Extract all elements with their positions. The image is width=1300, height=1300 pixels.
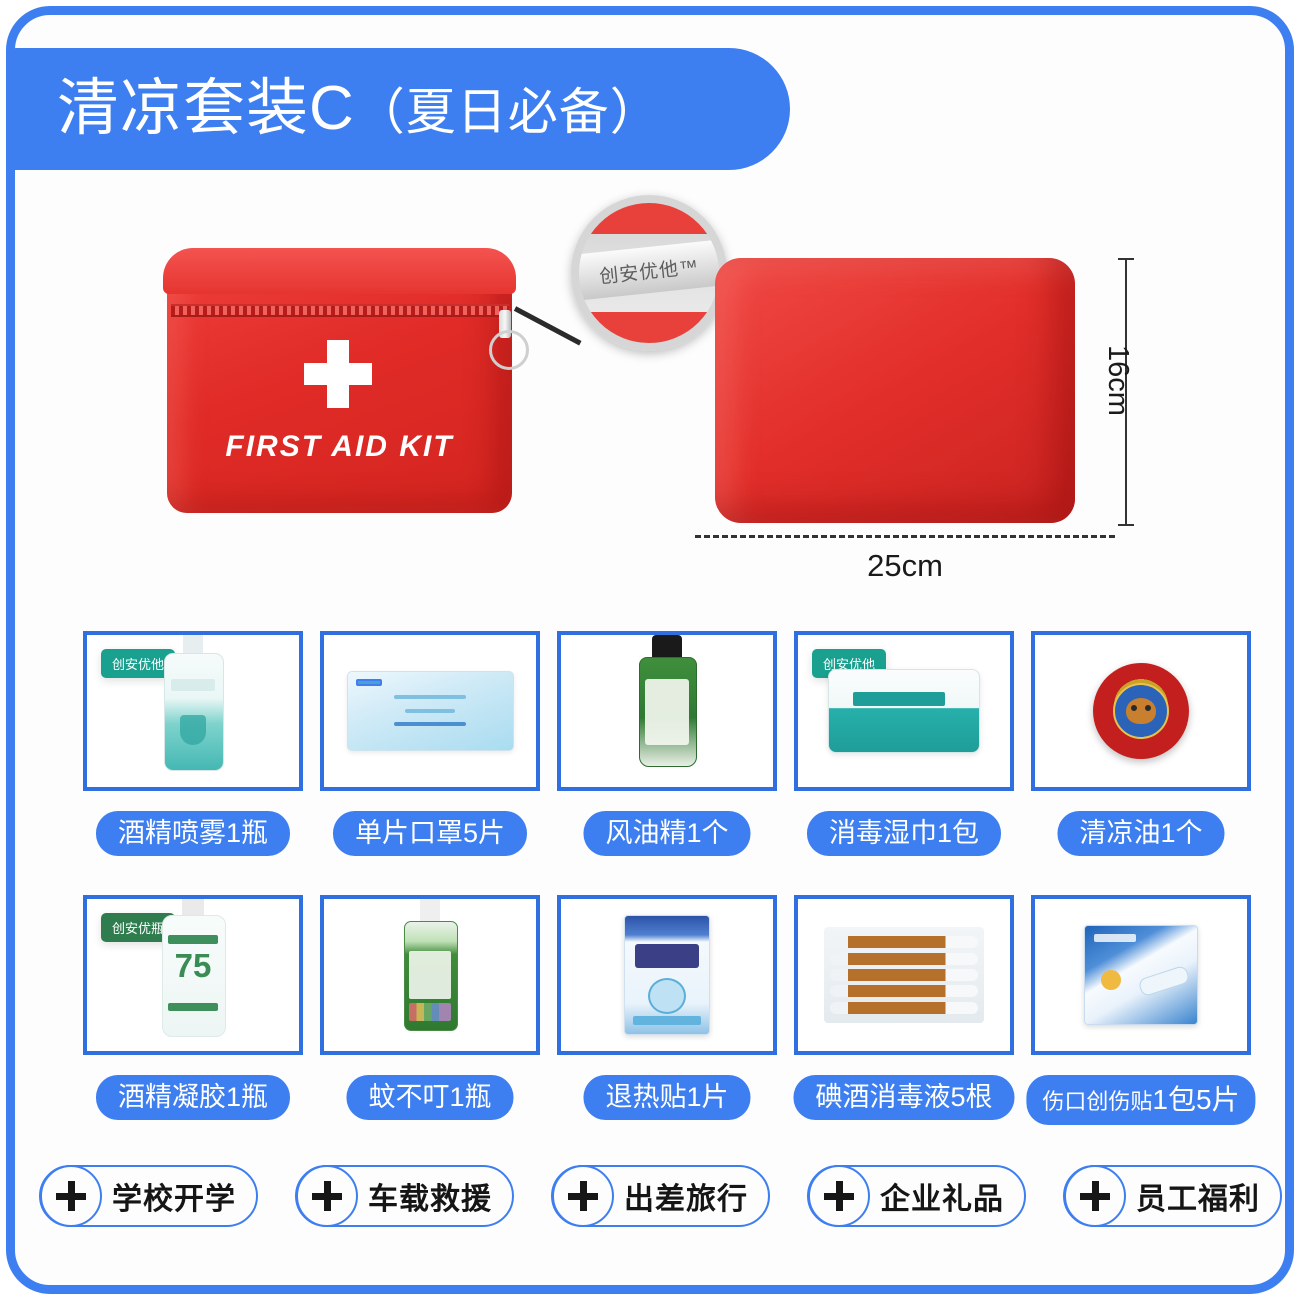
product-cell-alcohol-spray[interactable]: 创安优他 酒精喷雾1瓶 [83,631,303,791]
tag-label: 学校开学 [112,1174,236,1218]
product-cell-mosquito-spray[interactable]: 蚊不叮1瓶 [320,895,540,1055]
zipper-ring-icon [489,330,529,370]
product-label: 伤口创伤贴1包5片 [1026,1075,1255,1125]
tag-label: 企业礼品 [880,1174,1004,1218]
tag-employee-benefit[interactable]: 员工福利 [1063,1165,1282,1227]
product-thumb [794,895,1014,1055]
plus-icon [1064,1165,1126,1227]
tag-label: 出差旅行 [624,1174,748,1218]
product-infographic-card: 清凉套装C（夏日必备） FIRST AID KIT 创安优他™ 16cm 25c… [6,6,1294,1294]
product-thumb: 创安优他 [83,631,303,791]
product-thumb [1031,895,1251,1055]
title-banner: 清凉套装C（夏日必备） [6,48,790,170]
tiger-balm-tin-icon [1093,663,1189,759]
product-label: 退热贴1片 [583,1075,750,1120]
spray-bottle-icon [164,653,222,769]
product-cell-wet-wipes[interactable]: 创安优他 消毒湿巾1包 [794,631,1014,791]
plus-icon [552,1165,614,1227]
first-aid-pouch-front: FIRST AID KIT [167,258,512,513]
product-thumb [320,631,540,791]
product-label-prefix: 伤口创伤贴 [1042,1089,1152,1114]
product-label: 酒精喷雾1瓶 [96,811,290,856]
iodine-swabs-icon [824,927,984,1023]
product-label: 清凉油1个 [1057,811,1224,856]
magnifier-callout: 创安优他™ [571,195,727,351]
product-row-2: 创安优瓶 75 酒精凝胶1瓶 蚊不叮1瓶 [15,895,1294,1159]
product-label: 酒精凝胶1瓶 [96,1075,290,1120]
tag-corporate-gift[interactable]: 企业礼品 [807,1165,1026,1227]
plus-icon [296,1165,358,1227]
bandage-box-icon [1084,925,1198,1025]
plus-icon [808,1165,870,1227]
product-cell-bandages[interactable]: 伤口创伤贴1包5片 [1031,895,1251,1055]
mosquito-spray-icon [404,921,456,1029]
product-thumb [1031,631,1251,791]
medical-cross-icon [304,340,372,408]
product-cell-cooling-balm[interactable]: 清凉油1个 [1031,631,1251,791]
tag-car-rescue[interactable]: 车载救援 [295,1165,514,1227]
use-case-tags: 学校开学 车载救援 出差旅行 企业礼品 员工福利 [15,1165,1294,1255]
page-title: 清凉套装C（夏日必备） [57,78,661,140]
product-cell-face-mask[interactable]: 单片口罩5片 [320,631,540,791]
wet-wipes-pack-icon [828,669,980,753]
product-thumb: 创安优瓶 75 [83,895,303,1055]
page-title-main: 清凉套装C [57,74,355,143]
pouch-brand-text: FIRST AID KIT [167,430,512,464]
width-dimension-label: 25cm [695,548,1115,584]
product-label: 消毒湿巾1包 [807,811,1001,856]
gel-percentage-text: 75 [162,949,224,982]
tag-label: 车载救援 [368,1174,492,1218]
product-thumb: 创安优他 [794,631,1014,791]
product-cell-fever-patch[interactable]: 退热贴1片 [557,895,777,1055]
tag-school[interactable]: 学校开学 [39,1165,258,1227]
product-thumb [557,895,777,1055]
product-label: 风油精1个 [583,811,750,856]
page-title-paren: （夏日必备） [355,84,661,140]
mask-pack-icon [347,671,514,751]
first-aid-pouch-back [715,258,1075,523]
product-thumb [320,895,540,1055]
zipper-pull-plate: 创安优他™ [573,239,725,300]
plus-icon [40,1165,102,1227]
product-cell-essential-oil[interactable]: 风油精1个 [557,631,777,791]
zipper [171,304,509,317]
hero-section: FIRST AID KIT 创安优他™ 16cm 25cm [15,180,1294,610]
product-label-count: 1包5片 [1152,1084,1239,1115]
product-label: 蚊不叮1瓶 [346,1075,513,1120]
fever-patch-box-icon [624,915,710,1035]
product-cell-iodine-swabs[interactable]: 碘酒消毒液5根 [794,895,1014,1055]
product-row-1: 创安优他 酒精喷雾1瓶 单片口罩5片 [15,631,1294,895]
tag-label: 员工福利 [1136,1174,1260,1218]
tag-business-travel[interactable]: 出差旅行 [551,1165,770,1227]
product-label: 单片口罩5片 [333,811,527,856]
zipper-pull-text: 创安优他™ [598,251,700,288]
width-dimension-line [695,535,1115,538]
product-grid: 创安优他 酒精喷雾1瓶 单片口罩5片 [15,631,1294,1159]
alcohol-gel-bottle-icon: 75 [162,915,224,1035]
product-thumb [557,631,777,791]
height-dimension-label: 16cm [1101,345,1134,416]
product-label: 碘酒消毒液5根 [793,1075,1014,1120]
essential-oil-bottle-icon [639,657,695,765]
product-cell-alcohol-gel[interactable]: 创安优瓶 75 酒精凝胶1瓶 [83,895,303,1055]
